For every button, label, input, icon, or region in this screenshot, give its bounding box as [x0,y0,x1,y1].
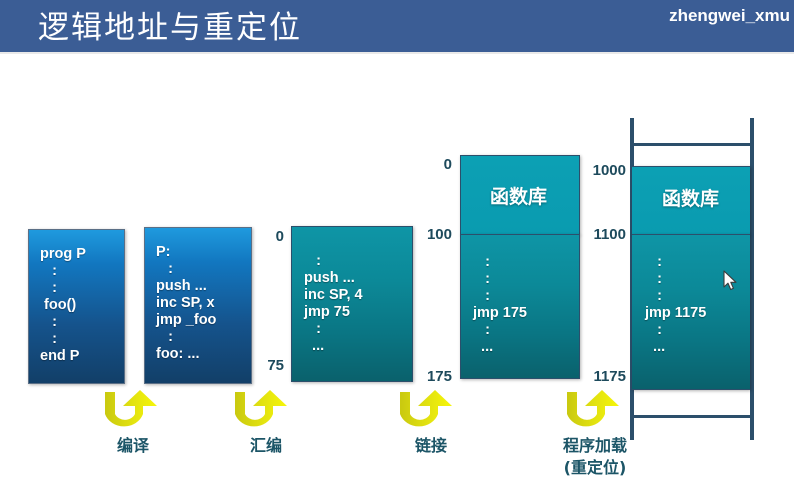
stage-memory-addr-bottom: 1175 [578,368,626,385]
stage-assembly-code: P: : push ... inc SP, x jmp _foo : foo: … [156,244,216,363]
link-arrow [390,384,462,436]
stage-exec-code: : : : jmp 175 : ... [473,254,527,356]
compile-label: 编译 [105,432,161,456]
assemble-label: 汇编 [238,432,294,456]
stage-memory-addr-divider: 1100 [578,226,626,243]
stage-exec-addr-divider: 100 [412,226,452,243]
stage-exec-addr-bottom: 175 [412,368,452,385]
load-arrow [557,384,629,436]
stage-object-addr-top: 0 [258,228,284,245]
stage-object-code: : push ... inc SP, 4 jmp 75 : ... [304,253,363,355]
stage-exec-addr-top: 0 [424,156,452,173]
title-bar: 逻辑地址与重定位 zhengwei_xmu [0,0,794,54]
stage-memory-library-title: 函数库 [662,184,719,211]
stage-object-addr-bottom: 75 [252,357,284,374]
assemble-arrow [225,384,297,436]
stage-memory-addr-top: 1000 [578,162,626,179]
watermark-label: zhengwei_xmu [669,6,790,26]
memory-frame-bottom-divider [630,415,754,418]
page-title: 逻辑地址与重定位 [38,2,302,47]
stage-memory-code: : : : jmp 1175 : ... [645,254,706,356]
mouse-pointer-icon [723,270,739,297]
link-label: 链接 [403,432,459,456]
memory-frame-right-line [750,118,754,440]
stage-exec-library-title: 函数库 [490,182,547,209]
memory-frame-top-divider [630,143,754,146]
compile-arrow [95,384,167,436]
load-label-second-line: (重定位) [540,454,650,478]
slide-canvas: prog P : : foo() : : end P 编译 P: : push … [0,54,794,486]
stage-source-code: prog P : : foo() : : end P [40,246,86,365]
